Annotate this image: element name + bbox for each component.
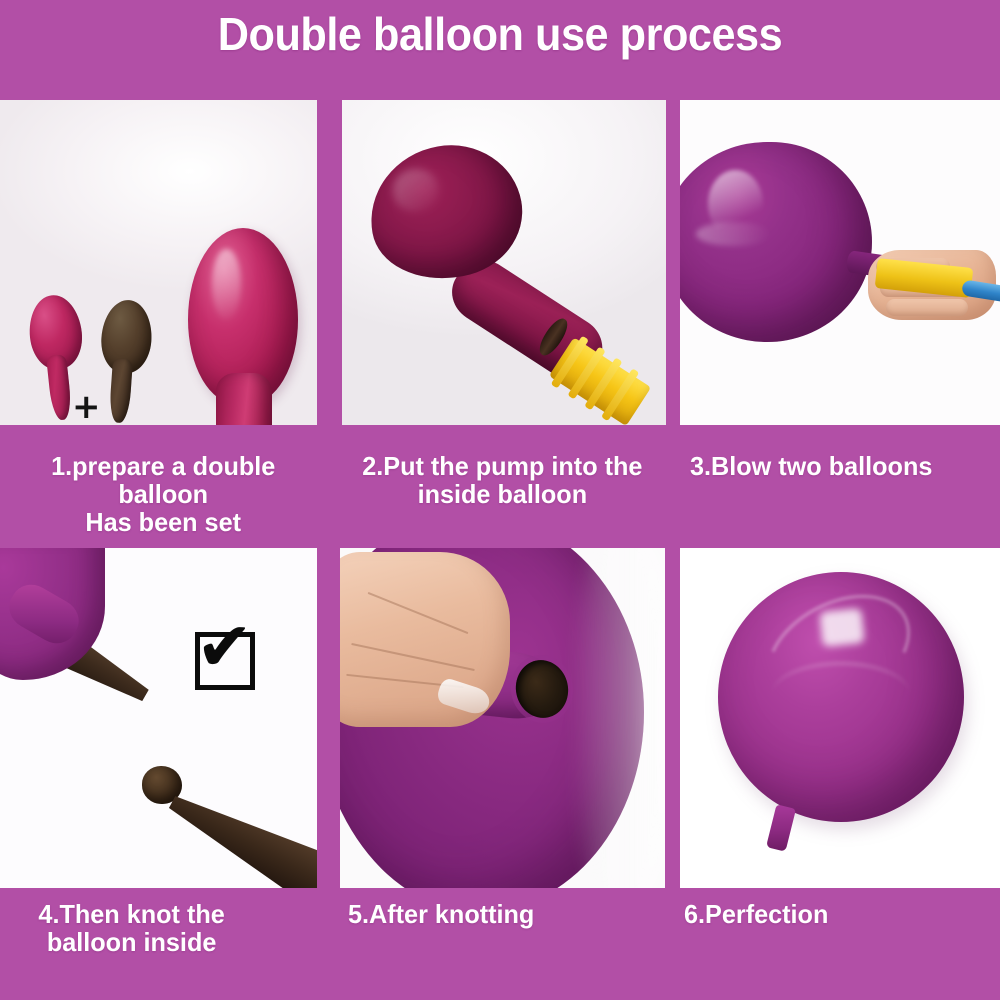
deflated-brown-balloon xyxy=(96,298,154,419)
balloon-neck xyxy=(216,373,272,425)
balloon-highlight xyxy=(820,607,865,646)
balloon-edge-highlight xyxy=(572,548,665,888)
finished-round-magenta-balloon xyxy=(718,572,964,822)
page-title: Double balloon use process xyxy=(30,8,970,61)
balloon-highlight xyxy=(696,222,772,246)
step-5-caption: 5.After knotting xyxy=(348,900,658,928)
balloon-neck xyxy=(109,358,133,423)
step-1-image-panel: + xyxy=(0,100,317,425)
step-4-caption: 4.Then knot the balloon inside xyxy=(22,900,241,956)
finger xyxy=(886,299,968,316)
combined-double-balloon xyxy=(188,228,298,425)
step-5-image-panel xyxy=(340,548,665,888)
checkmark-icon: ✔ xyxy=(196,614,253,682)
step-3-caption: 3.Blow two balloons xyxy=(690,452,991,480)
step-4-image-panel xyxy=(0,548,317,888)
step-6-image-panel xyxy=(680,548,1000,888)
step-2-image-panel xyxy=(342,100,666,425)
step-1-caption: 1.prepare a double balloon Has been set xyxy=(8,452,318,536)
step-2-caption: 2.Put the pump into the inside balloon xyxy=(352,452,653,508)
step-3-image-panel xyxy=(680,100,1000,425)
step-6-caption: 6.Perfection xyxy=(684,900,985,928)
balloon-highlight-arc xyxy=(772,662,910,727)
balloon-bulb xyxy=(360,134,533,290)
